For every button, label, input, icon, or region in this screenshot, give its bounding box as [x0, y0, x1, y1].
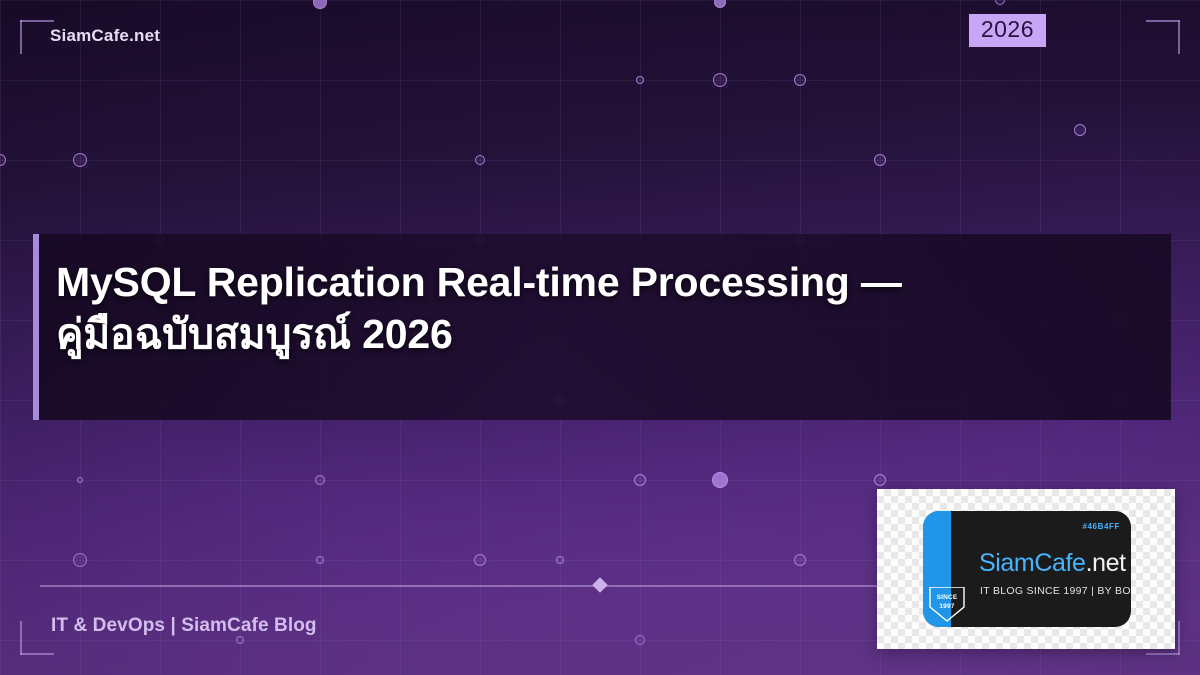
year-badge: 2026 [969, 14, 1046, 47]
corner-bracket-top-right [1146, 20, 1180, 54]
corner-bracket-bottom-left [20, 621, 54, 655]
network-node [315, 475, 325, 485]
page-title: MySQL Replication Real-time Processing —… [56, 256, 1156, 360]
network-node [556, 556, 564, 564]
network-node [77, 477, 83, 483]
network-node [636, 76, 644, 84]
network-node [1074, 124, 1086, 136]
shield-line-2: 1997 [939, 603, 954, 610]
title-accent-bar [33, 234, 39, 420]
brand-wordmark-top: SiamCafe.net [50, 26, 160, 46]
network-node [474, 554, 486, 566]
shield-label: SINCE 1997 [927, 594, 967, 611]
network-node [313, 0, 327, 9]
shield-line-1: SINCE [937, 594, 958, 601]
network-node [73, 153, 87, 167]
network-node [874, 154, 886, 166]
divider-diamond-marker [592, 577, 608, 593]
network-node [713, 73, 727, 87]
network-node [634, 474, 646, 486]
since-1997-shield-icon: SINCE 1997 [927, 587, 967, 623]
logo-tagline: IT BLOG SINCE 1997 | BY BOM [980, 585, 1131, 597]
network-node [714, 0, 726, 8]
network-node [475, 155, 485, 165]
logo-hex-code-label: #46B4FF [1082, 522, 1120, 531]
logo-wordmark-main: SiamCafe [979, 549, 1086, 577]
corner-bracket-top-left [20, 20, 54, 54]
network-node [73, 553, 87, 567]
network-node [635, 635, 645, 645]
logo-wordmark: SiamCafe.net [979, 551, 1126, 576]
network-node [712, 472, 728, 488]
network-node [794, 74, 806, 86]
logo-wordmark-suffix: .net [1086, 549, 1126, 577]
network-node [236, 636, 244, 644]
logo-card: #46B4FF SiamCafe.net IT BLOG SINCE 1997 … [877, 489, 1175, 649]
network-node [316, 556, 324, 564]
header-graphic-canvas: SiamCafe.net 2026 MySQL Replication Real… [0, 0, 1200, 675]
network-node [995, 0, 1005, 5]
network-node [794, 554, 806, 566]
network-node [0, 154, 6, 166]
network-node [874, 474, 886, 486]
logo-plate: #46B4FF SiamCafe.net IT BLOG SINCE 1997 … [923, 511, 1131, 627]
footer-caption: IT & DevOps | SiamCafe Blog [51, 615, 317, 637]
